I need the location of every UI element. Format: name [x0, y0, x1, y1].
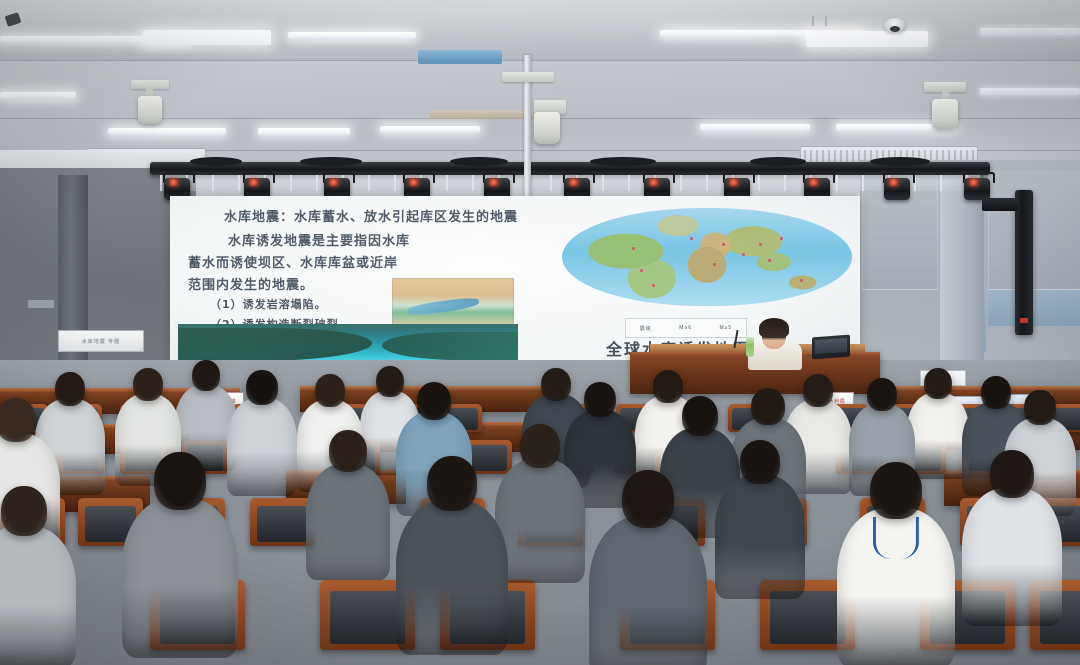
- legend-item-1: M≥6: [679, 325, 692, 331]
- person-head: [0, 398, 36, 442]
- attendee: [122, 452, 238, 665]
- ceiling-blue-panel: [418, 50, 502, 64]
- ceiling-light-strip: [108, 128, 226, 135]
- person-torso: [122, 498, 238, 658]
- column-speaker: [1015, 190, 1033, 335]
- stage-light-lens: [889, 179, 898, 186]
- ceiling-light-strip: [0, 92, 76, 99]
- attendee: [589, 470, 707, 665]
- person-head: [622, 470, 674, 528]
- ceiling-light-strip: [288, 32, 416, 39]
- person-head: [520, 424, 560, 468]
- right-wall-panel: [988, 170, 1080, 290]
- person-torso: [962, 488, 1062, 626]
- ceiling-projector: [138, 96, 162, 124]
- stage-light-lens: [729, 179, 738, 186]
- slide-line-4: 范围内发生的地震。: [188, 274, 314, 293]
- ceiling-light-strip: [258, 128, 350, 135]
- ceiling-service-panel: [430, 110, 536, 119]
- left-wall-marking: [28, 300, 54, 308]
- person-torso: [715, 475, 805, 599]
- slide-map-legend: 震级 M≥6 M≥5: [625, 318, 747, 338]
- person-head: [682, 396, 718, 436]
- person-torso: [495, 459, 585, 583]
- person-torso: [0, 526, 76, 665]
- attendee: [306, 430, 390, 588]
- person-torso: [589, 516, 707, 665]
- person-head: [154, 452, 206, 510]
- ceiling-light-strip: [980, 28, 1080, 35]
- person-torso: [396, 500, 508, 655]
- stage-light-lens: [969, 179, 978, 186]
- water-bottle: [746, 337, 754, 357]
- person-head: [427, 456, 477, 511]
- person-head: [417, 382, 451, 420]
- lecture-hall-photo: 水库地震 专题 安全出口 疏散通道 水库地震：水库蓄水、放水引起库区发生的地震 …: [0, 0, 1080, 665]
- slide-line-1: 水库地震：水库蓄水、放水引起库区发生的地震: [224, 206, 518, 225]
- stage-light-lens: [249, 179, 258, 186]
- slide-bullet-1: （1）诱发岩溶塌陷。: [210, 296, 327, 312]
- pole-projector: [534, 112, 560, 144]
- attendee: [715, 440, 805, 608]
- right-wall-blue-panel: [988, 290, 1080, 326]
- dome-security-camera-icon: [884, 18, 906, 33]
- attendee: [495, 424, 585, 592]
- person-head: [329, 430, 367, 472]
- ceiling-bracket: [812, 16, 827, 26]
- stage-light-lens: [409, 179, 418, 186]
- person-head: [740, 440, 780, 484]
- person-head: [133, 368, 163, 401]
- person-head: [192, 360, 220, 391]
- person-torso: [837, 508, 955, 665]
- stage-light-lens: [489, 179, 498, 186]
- slide-inset-map: [392, 278, 514, 328]
- attendee: [396, 456, 508, 665]
- pole-mount-plate: [502, 72, 554, 82]
- slide-line-2: 水库诱发地震是主要指因水库: [228, 230, 410, 249]
- truss-equipment-box: [982, 198, 1018, 211]
- person-head: [803, 374, 833, 407]
- ceiling-light-strip: [980, 88, 1080, 95]
- ceiling-light-strip: [380, 126, 480, 133]
- attendee: [837, 462, 955, 665]
- person-head: [1, 486, 47, 536]
- presenter-laptop: [812, 335, 850, 360]
- person-head: [315, 374, 345, 407]
- person-head: [924, 368, 952, 399]
- presenter-hair: [759, 318, 789, 338]
- ceiling-light-strip: [700, 124, 810, 131]
- stage-light: [880, 172, 914, 202]
- ceiling-light-panel: [143, 30, 271, 45]
- stage-light-lens: [809, 179, 818, 186]
- legend-title: 震级: [640, 325, 652, 332]
- person-head: [751, 388, 785, 425]
- slide-line-3: 蓄水而诱使坝区、水库库盆或近岸: [188, 252, 398, 271]
- person-torso: [306, 464, 390, 580]
- person-head: [990, 450, 1034, 498]
- stage-light-lens: [329, 179, 338, 186]
- stage-light-lens: [169, 179, 178, 186]
- legend-item-2: M≥5: [720, 325, 733, 331]
- lanyard: [873, 517, 919, 559]
- attendee: [0, 486, 76, 665]
- person-head: [1024, 390, 1056, 425]
- person-head: [867, 378, 897, 411]
- person-head: [246, 370, 278, 405]
- stage-light-lens: [569, 179, 578, 186]
- attendee: [962, 450, 1062, 636]
- ceiling-projector: [932, 99, 958, 129]
- slide-world-map: [562, 208, 852, 306]
- chair-seat-pad: [330, 591, 404, 644]
- stage-light-lens: [649, 179, 658, 186]
- person-head: [870, 462, 922, 519]
- chair-seat-pad: [257, 506, 308, 542]
- left-wall-sign: 水库地震 专题: [58, 330, 144, 352]
- ceiling-light-panel: [806, 31, 928, 47]
- person-head: [584, 382, 616, 417]
